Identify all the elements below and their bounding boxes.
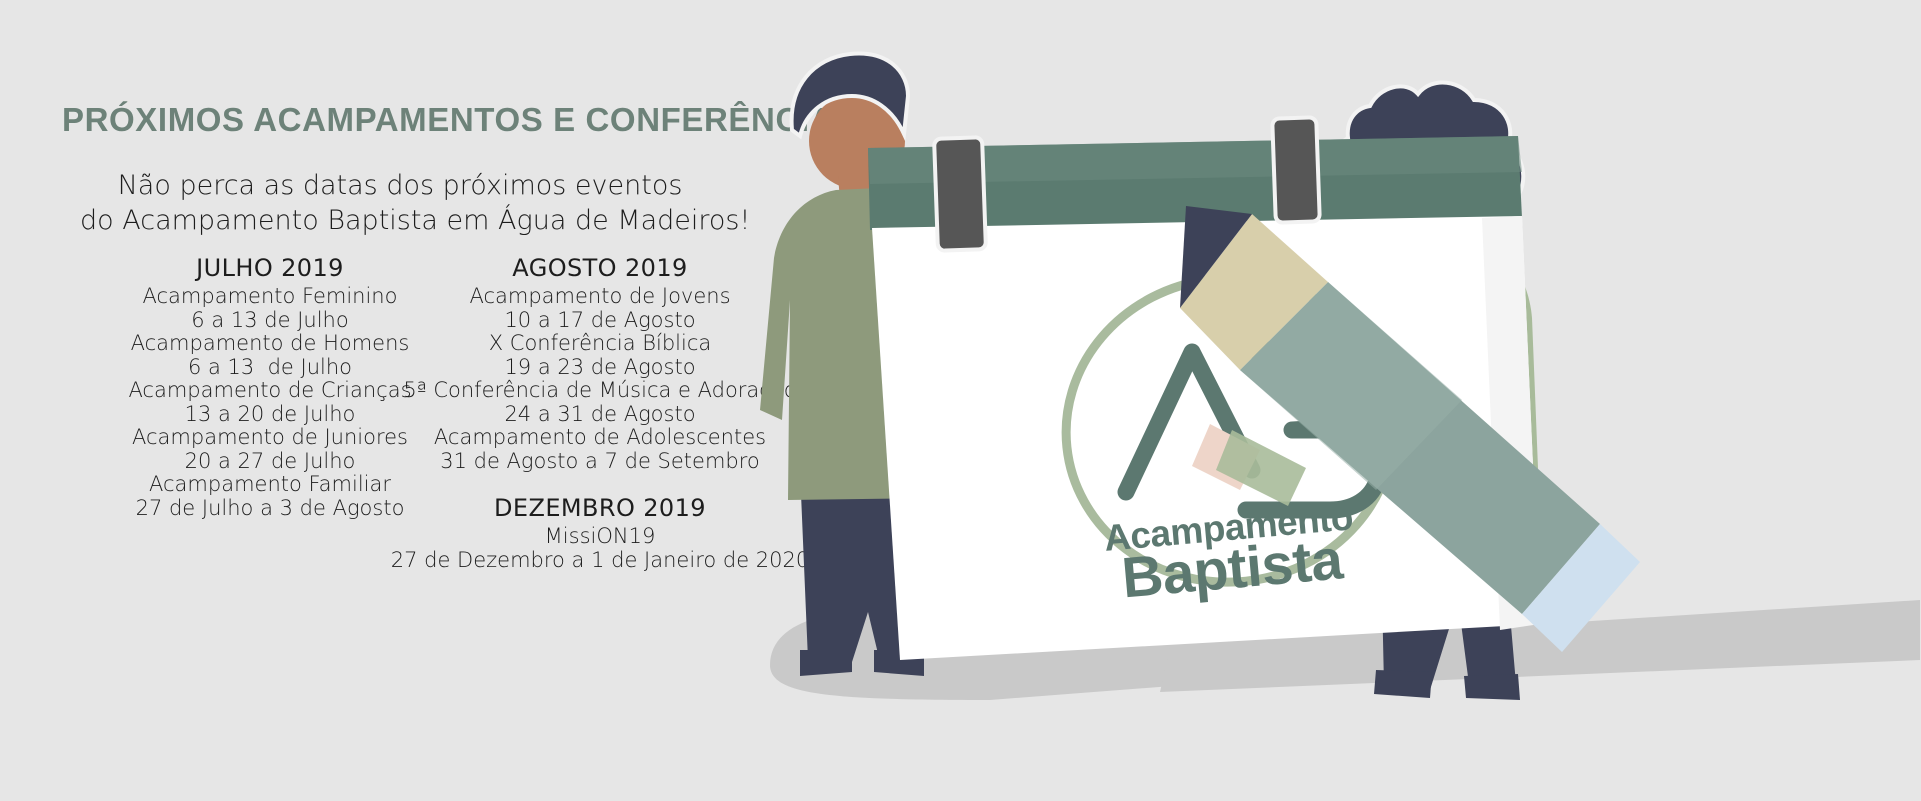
- marker-icon-left: [934, 137, 986, 251]
- page-title: PRÓXIMOS ACAMPAMENTOS E CONFERÊNCIAS: [62, 101, 857, 139]
- subtitle-line-2: do Acampamento Baptista em Água de Madei…: [80, 203, 720, 238]
- poster-canvas: PRÓXIMOS ACAMPAMENTOS E CONFERÊNCIAS Não…: [0, 0, 1921, 801]
- subtitle-line-1: Não perca as datas dos próximos eventos: [80, 168, 720, 203]
- subtitle: Não perca as datas dos próximos eventos …: [80, 168, 720, 238]
- illustration: Acampamento Baptista: [740, 0, 1921, 801]
- marker-icon-right: [1272, 117, 1320, 222]
